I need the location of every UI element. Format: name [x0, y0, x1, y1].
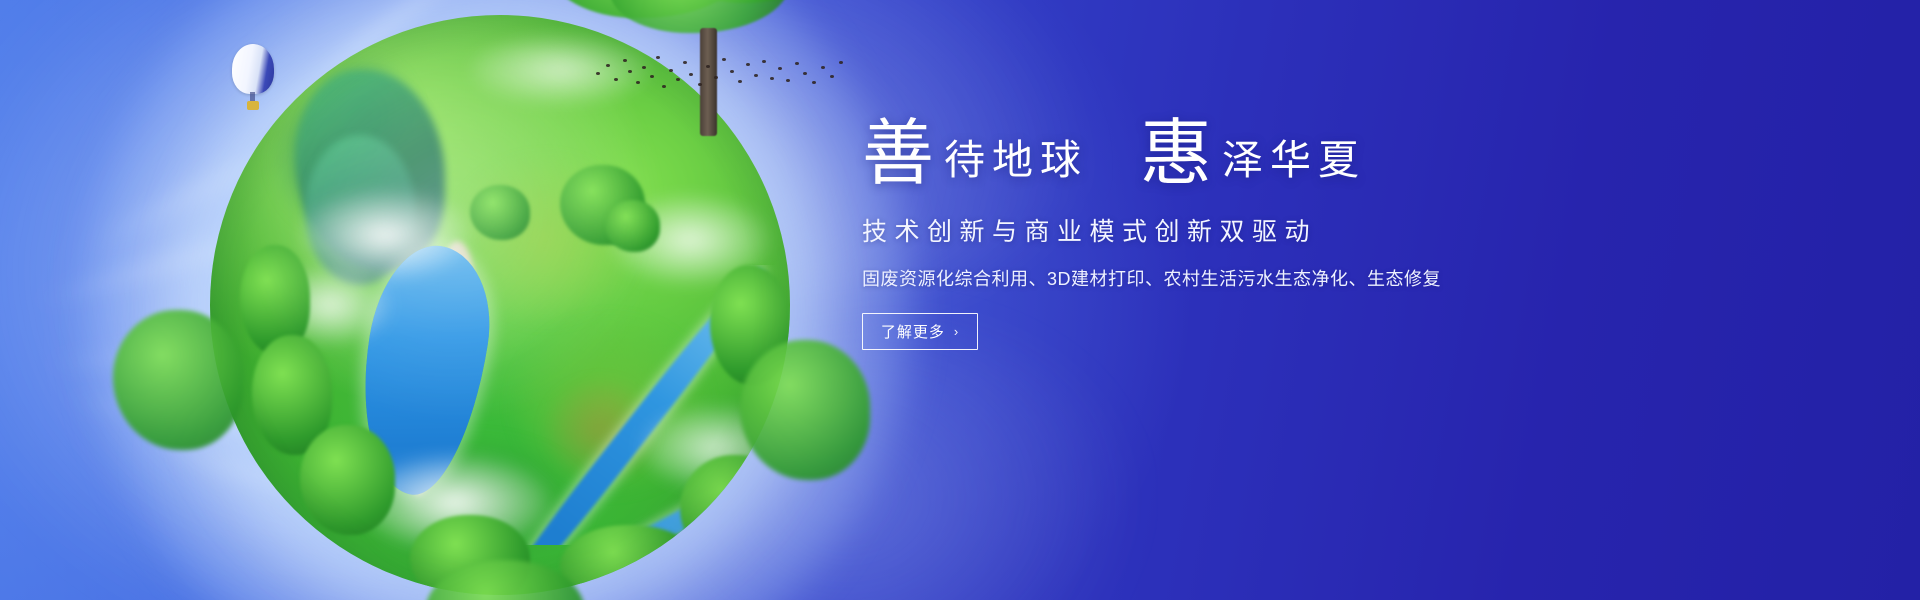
headline: 善 待地球 惠 泽华夏 — [862, 120, 1562, 190]
terrain-patch — [310, 55, 420, 175]
planet-cloud — [610, 195, 770, 285]
bird-flock — [590, 50, 850, 98]
hero-copy: 善 待地球 惠 泽华夏 技术创新与商业模式创新双驱动 固废资源化综合利用、3D建… — [862, 120, 1562, 350]
rim-tree — [300, 425, 395, 535]
balloon-envelope — [232, 44, 274, 94]
description: 固废资源化综合利用、3D建材打印、农村生活污水生态净化、生态修复 — [862, 265, 1562, 291]
headline-phrase2-small: 泽华夏 — [1222, 126, 1366, 186]
terrain-patch — [450, 155, 640, 325]
learn-more-button[interactable]: 了解更多 › — [862, 313, 978, 350]
hot-air-balloon — [232, 44, 274, 114]
planet-cloud — [360, 455, 550, 550]
mountain-range — [295, 70, 445, 270]
headline-phrase1-big: 善 — [862, 120, 934, 188]
learn-more-label: 了解更多 — [881, 321, 945, 342]
balloon-basket — [247, 101, 259, 110]
planet-cloud — [270, 265, 390, 345]
planet-cloud — [300, 190, 470, 280]
terrain-patch — [270, 85, 400, 235]
hero-banner: 善 待地球 惠 泽华夏 技术创新与商业模式创新双驱动 固废资源化综合利用、3D建… — [0, 0, 1920, 600]
terrain-patch — [360, 435, 590, 575]
rim-tree — [605, 200, 660, 252]
terrain-patch — [540, 375, 660, 485]
rim-tree — [252, 335, 332, 455]
chevron-right-icon: › — [954, 325, 959, 338]
tagline: 技术创新与商业模式创新双驱动 — [862, 212, 1562, 248]
lake — [346, 237, 502, 502]
headline-phrase1-small: 待地球 — [944, 126, 1088, 186]
rim-tree — [680, 455, 790, 565]
rim-tree — [560, 525, 700, 595]
rim-tree — [470, 185, 530, 240]
mountain-range — [305, 135, 415, 285]
rim-tree — [113, 310, 243, 450]
headline-phrase2-big: 惠 — [1140, 120, 1212, 188]
rim-tree — [740, 340, 870, 480]
terrain-patch — [510, 315, 710, 495]
rim-tree — [560, 165, 645, 245]
lake-shore — [394, 238, 486, 500]
rim-tree — [240, 245, 310, 355]
